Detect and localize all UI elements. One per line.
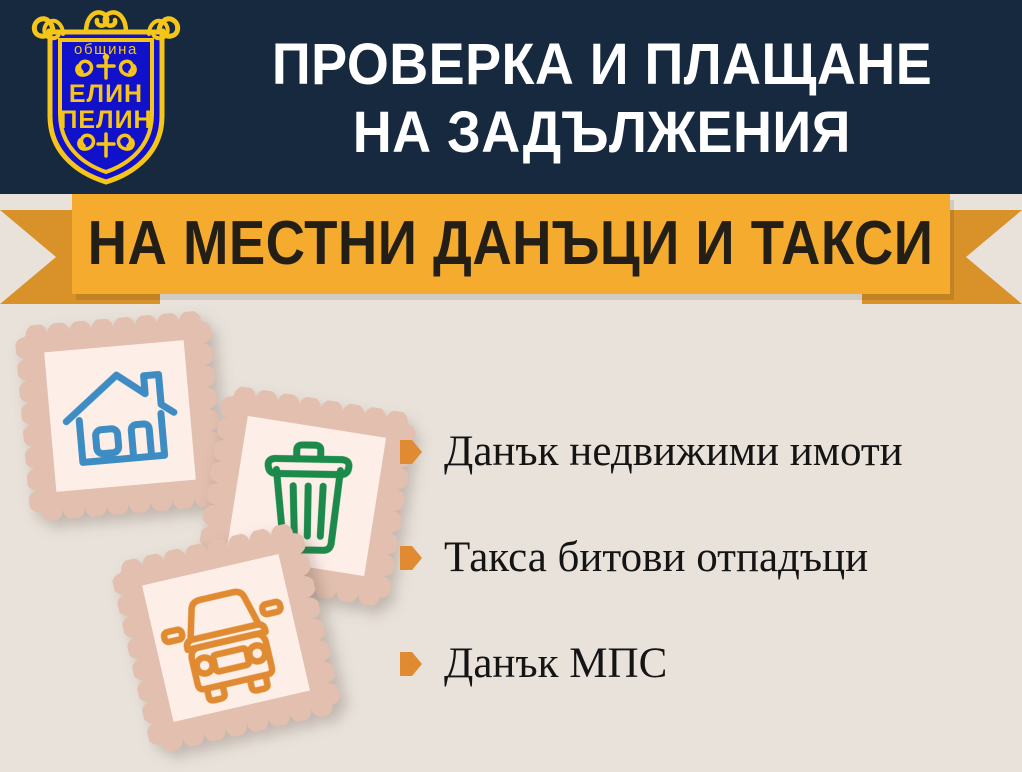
title-line-2: НА ЗАДЪЛЖЕНИЯ: [353, 99, 851, 167]
list-item-label: Данък недвижими имоти: [444, 428, 903, 476]
list-item-label: Такса битови отпадъци: [444, 534, 868, 582]
header-bar: община ЕЛИН ПЕЛИН ПРОВЕРКА И ПЛАЩАНЕ НА …: [0, 0, 1022, 194]
crest-text-elin: ЕЛИН: [69, 80, 143, 108]
tax-type-list: Данък недвижими имоти Такса битови отпад…: [400, 424, 1010, 692]
page-title: ПРОВЕРКА И ПЛАЩАНЕ НА ЗАДЪЛЖЕНИЯ: [196, 16, 1008, 181]
list-item: Данък МПС: [400, 636, 1010, 692]
bullet-arrow-icon: [400, 440, 422, 464]
subtitle-ribbon: НА МЕСТНИ ДАНЪЦИ И ТАКСИ: [0, 194, 1022, 310]
list-item: Такса битови отпадъци: [400, 530, 1010, 586]
list-item-label: Данък МПС: [444, 640, 667, 688]
crest-text-obshtina: община: [74, 41, 138, 58]
ribbon-label: НА МЕСТНИ ДАНЪЦИ И ТАКСИ: [88, 213, 934, 275]
title-line-1: ПРОВЕРКА И ПЛАЩАНЕ: [272, 31, 932, 99]
list-item: Данък недвижими имоти: [400, 424, 1010, 480]
poster-canvas: община ЕЛИН ПЕЛИН ПРОВЕРКА И ПЛАЩАНЕ НА …: [0, 0, 1022, 772]
crest-text-pelin: ПЕЛИН: [59, 106, 152, 134]
ribbon-band: НА МЕСТНИ ДАНЪЦИ И ТАКСИ: [72, 194, 950, 294]
bullet-arrow-icon: [400, 652, 422, 676]
stamp-face: [44, 340, 196, 492]
bullet-arrow-icon: [400, 546, 422, 570]
coat-of-arms-icon: община ЕЛИН ПЕЛИН: [20, 4, 192, 190]
stamp-property: [14, 310, 226, 522]
